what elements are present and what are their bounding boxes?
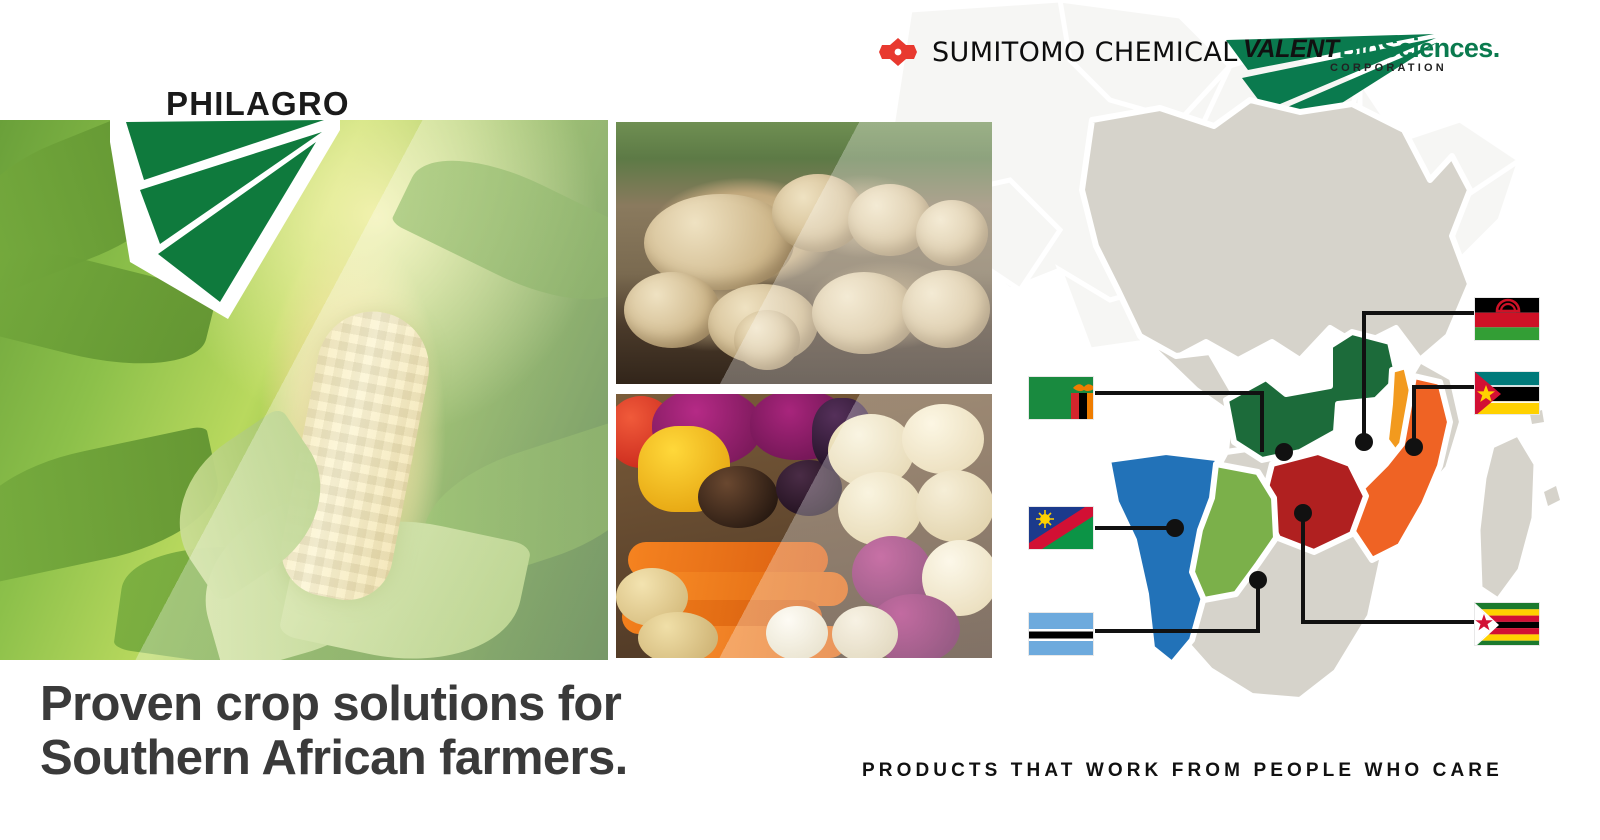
island-dot-1	[1544, 486, 1560, 506]
madagascar-shape	[1478, 434, 1536, 600]
headline: Proven crop solutions for Southern Afric…	[40, 678, 628, 786]
zambia-flag[interactable]	[1028, 376, 1094, 420]
valent-word: VALENT	[1243, 35, 1339, 63]
headline-line-1: Proven crop solutions for	[40, 678, 628, 732]
biosciences-word: BioSciences.	[1339, 33, 1500, 63]
namibia-flag[interactable]	[1028, 506, 1094, 550]
malawi-flag[interactable]	[1474, 297, 1540, 341]
promotional-banner: PHILAGRO SUMITOMO CHEMICAL VALENTBioScie…	[0, 0, 1600, 840]
dot-mozambique	[1405, 438, 1423, 456]
photo-potatoes	[616, 122, 992, 384]
dot-zimbabwe	[1294, 504, 1312, 522]
botswana-flag[interactable]	[1028, 612, 1094, 656]
mozambique-flag[interactable]	[1474, 371, 1540, 415]
dot-botswana	[1249, 571, 1267, 589]
valent-corporation-text: CORPORATION	[1330, 62, 1447, 74]
dot-zambia	[1275, 443, 1293, 461]
tagline: PRODUCTS THAT WORK FROM PEOPLE WHO CARE	[862, 760, 1503, 782]
southern-africa-map	[1000, 60, 1600, 760]
philagro-wordmark: PHILAGRO	[166, 85, 350, 123]
dot-namibia	[1166, 519, 1184, 537]
valent-wordmark: VALENTBioSciences.	[1243, 33, 1500, 64]
sumitomo-diamond-icon	[876, 36, 920, 68]
dot-malawi	[1355, 433, 1373, 451]
zimbabwe-flag[interactable]	[1474, 602, 1540, 646]
headline-line-2: Southern African farmers.	[40, 732, 628, 786]
photo-vegetables	[616, 394, 992, 658]
